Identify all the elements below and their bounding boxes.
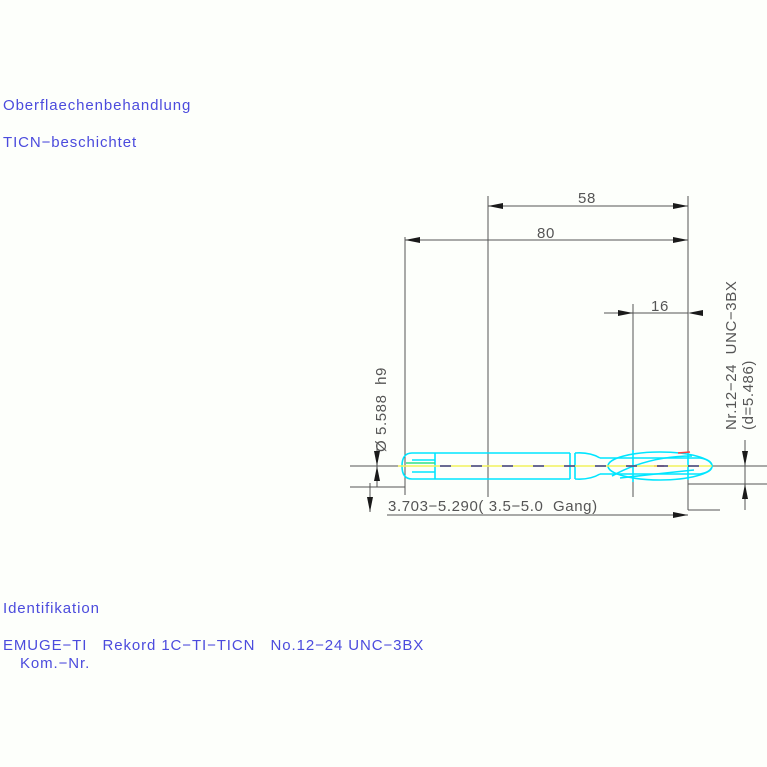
dimension-label-58: 58 bbox=[578, 190, 596, 207]
arrow-58-left bbox=[488, 203, 503, 209]
arrow-80-right bbox=[673, 237, 688, 243]
neck-taper-top bbox=[575, 453, 600, 458]
arrow-thread-down bbox=[742, 484, 748, 499]
identification-line-1: EMUGE−TI Rekord 1C−TI−TICN No.12−24 UNC−… bbox=[3, 637, 424, 654]
arrow-80-left bbox=[405, 237, 420, 243]
surface-treatment-value: TICN−beschichtet bbox=[3, 134, 137, 151]
surface-treatment-heading: Oberflaechenbehandlung bbox=[3, 97, 191, 114]
identification-line-2: Kom.−Nr. bbox=[20, 655, 90, 672]
dimension-label-shank-diameter: Ø 5.588 h9 bbox=[373, 367, 390, 452]
dimension-label-80: 80 bbox=[537, 225, 555, 242]
neck-taper-bottom bbox=[575, 474, 600, 479]
identification-heading: Identifikation bbox=[3, 600, 100, 617]
arrow-16-left bbox=[618, 310, 633, 316]
arrow-diameter-up bbox=[374, 451, 380, 466]
dimension-label-thread-spec-2: (d=5.486) bbox=[740, 360, 757, 430]
arrow-thread-up bbox=[742, 451, 748, 466]
arrow-square-left bbox=[367, 497, 373, 512]
arrow-58-right bbox=[673, 203, 688, 209]
dimension-label-thread-spec-1: Nr.12−24 UNC−3BX bbox=[723, 281, 740, 430]
cad-drawing-canvas: Oberflaechenbehandlung TICN−beschichtet … bbox=[0, 0, 767, 767]
cutting-edge-mark-2 bbox=[678, 452, 690, 453]
dimension-lines-group bbox=[350, 196, 767, 515]
arrow-diameter-down bbox=[374, 466, 380, 481]
arrow-16-right bbox=[688, 310, 703, 316]
dimension-label-16: 16 bbox=[651, 298, 669, 315]
arrow-square-right bbox=[673, 512, 688, 518]
dimension-label-square-range: 3.703−5.290( 3.5−5.0 Gang) bbox=[388, 498, 598, 515]
